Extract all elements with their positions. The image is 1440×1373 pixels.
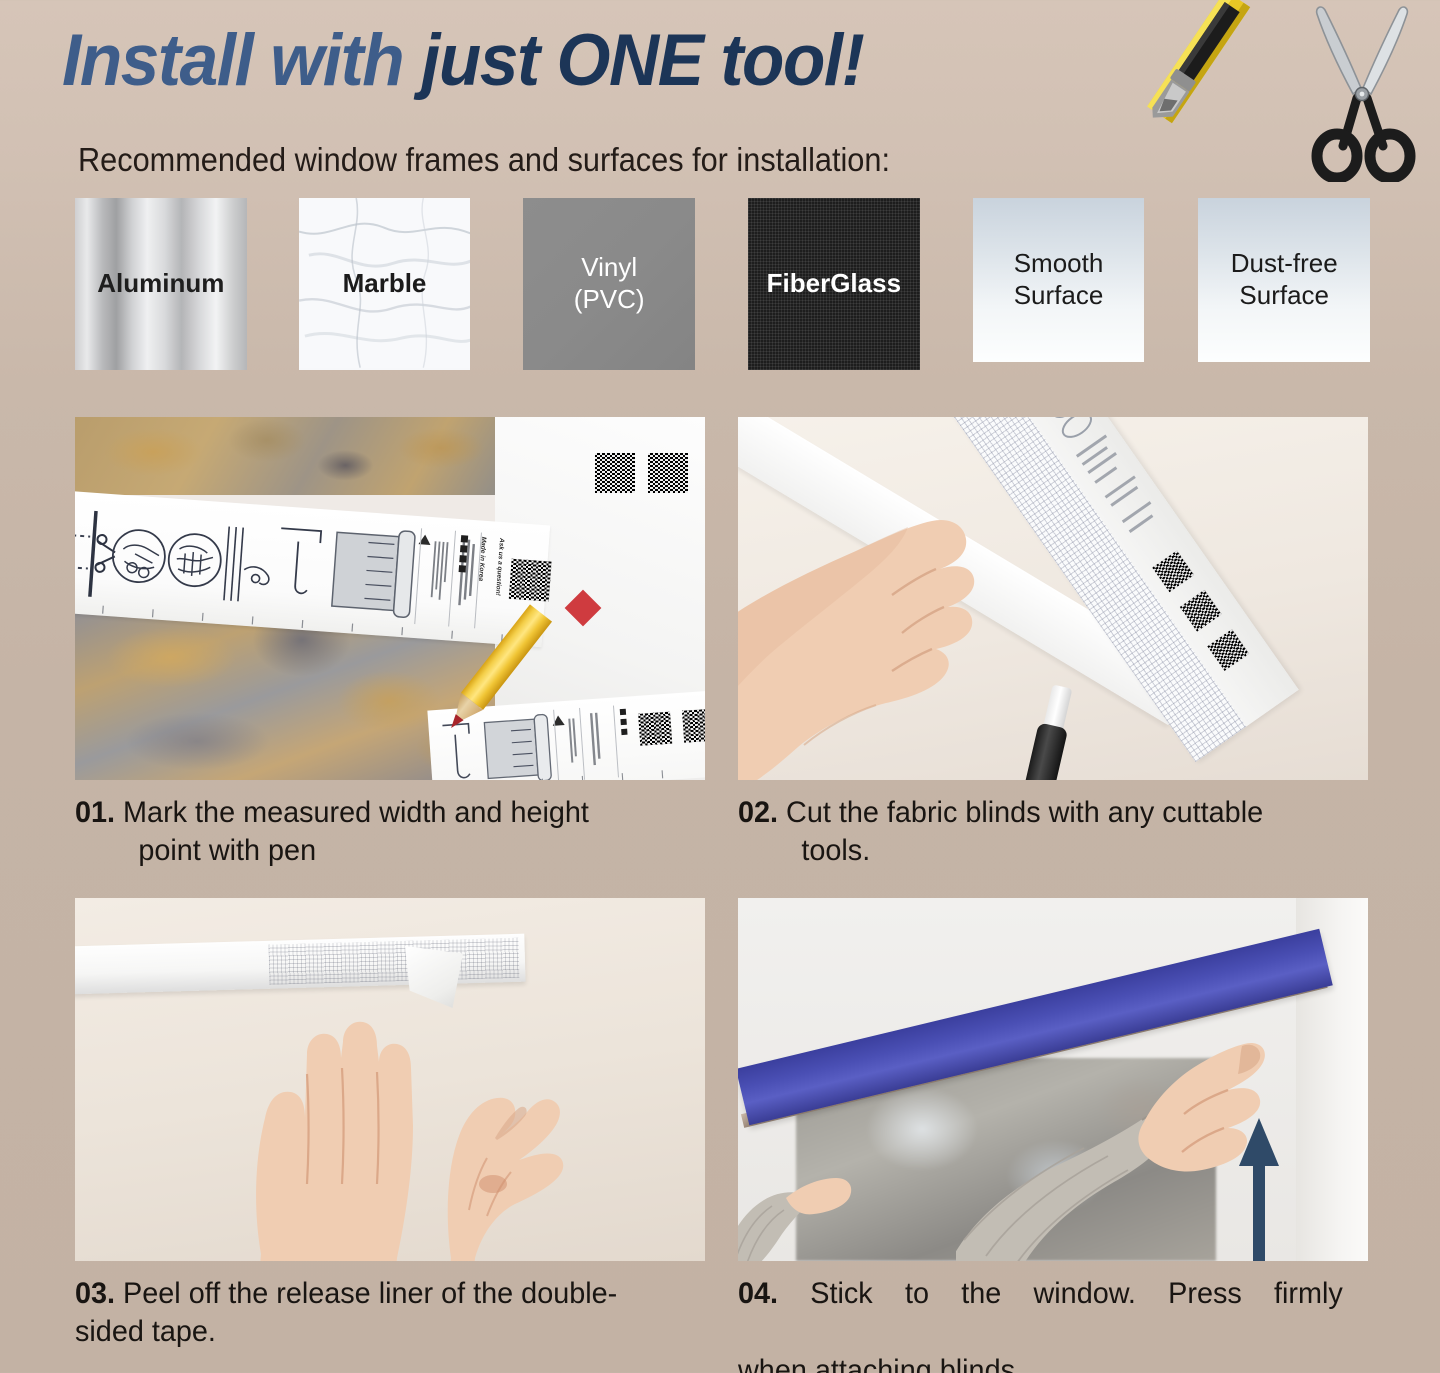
scissors-icon: [1295, 2, 1430, 182]
step-01: Made in Korea Ask us a question!: [75, 417, 705, 871]
swatch-smooth-surface: SmoothSurface: [973, 198, 1145, 362]
step-04-caption: 04. Stick to the window. Press firmly wh…: [738, 1275, 1343, 1373]
step-04: 04. Stick to the window. Press firmly wh…: [738, 898, 1368, 1373]
swatch-aluminum-label: Aluminum: [91, 268, 230, 300]
hand-pressing-strip-icon: [738, 477, 1146, 780]
swatch-dust-free-surface: Dust-freeSurface: [1198, 198, 1370, 362]
step-01-photo: Made in Korea Ask us a question!: [75, 417, 705, 780]
step-02-number: 02.: [738, 796, 778, 829]
step-04-photo: [738, 898, 1368, 1261]
swatch-marble-label: Marble: [337, 268, 433, 300]
swatch-fiberglass-label: FiberGlass: [761, 268, 907, 300]
swatch-dust-free-surface-label: Dust-freeSurface: [1219, 248, 1350, 311]
step-04-line1: Stick to the window. Press firmly: [810, 1277, 1343, 1310]
page-title-part-2: just ONE tool!: [421, 20, 863, 101]
step-03: 03. Peel off the release liner of the do…: [75, 898, 705, 1352]
swatch-vinyl-pvc: Vinyl(PVC): [523, 198, 695, 370]
qr-code-1-icon: [509, 559, 552, 602]
step-02-caption: 02. Cut the fabric blinds with any cutta…: [738, 794, 1343, 871]
step-03-caption: 03. Peel off the release liner of the do…: [75, 1275, 680, 1352]
qr-code-3-icon: [682, 709, 705, 743]
step-04-line2: when attaching blinds.: [738, 1352, 1343, 1373]
qr-code-4-icon: [595, 453, 635, 493]
qr-code-5-icon: [648, 453, 688, 493]
tool-illustrations: OR: [1130, 0, 1440, 185]
page-title: Install with just ONE tool!: [62, 20, 863, 102]
step-01-number: 01.: [75, 796, 115, 829]
page-title-part-1: Install with: [62, 20, 421, 101]
step-02-line2: tools.: [738, 832, 1343, 870]
stone-surface-top: [75, 417, 511, 495]
swatch-fiberglass: FiberGlass: [748, 198, 920, 370]
swatch-vinyl-pvc-label: Vinyl(PVC): [562, 252, 657, 315]
right-hand-sleeve-icon: [956, 990, 1286, 1261]
upward-arrow-icon: [1238, 1116, 1280, 1261]
qr-code-2-icon: [638, 712, 672, 746]
step-02: 02. Cut the fabric blinds with any cutta…: [738, 417, 1368, 871]
left-hand-sleeve-icon: [738, 1116, 890, 1261]
step-03-line1: Peel off the release liner of the double…: [123, 1277, 617, 1310]
step-01-line2: point with pen: [75, 832, 680, 870]
utility-knife-icon: [1135, 0, 1255, 137]
step-01-caption: 01. Mark the measured width and height p…: [75, 794, 680, 871]
surface-swatch-row: Aluminum Marble Vinyl(PVC) FiberGlass Sm…: [75, 198, 1370, 378]
installation-steps: Made in Korea Ask us a question!: [75, 417, 1370, 1357]
step-01-line1: Mark the measured width and height: [123, 796, 589, 829]
step-04-number: 04.: [738, 1277, 778, 1310]
header-banner: Install with just ONE tool! Recommended …: [0, 0, 1440, 200]
swatch-marble: Marble: [299, 198, 471, 370]
step-03-line2: sided tape.: [75, 1313, 680, 1351]
swatch-aluminum: Aluminum: [75, 198, 247, 370]
subtitle: Recommended window frames and surfaces f…: [78, 140, 890, 180]
swatch-smooth-surface-label: SmoothSurface: [1002, 248, 1116, 311]
step-02-line1: Cut the fabric blinds with any cuttable: [786, 796, 1263, 829]
step-03-number: 03.: [75, 1277, 115, 1310]
step-03-photo: [75, 898, 705, 1261]
step-02-photo: [738, 417, 1368, 780]
two-hands-peeling-icon: [225, 958, 645, 1261]
